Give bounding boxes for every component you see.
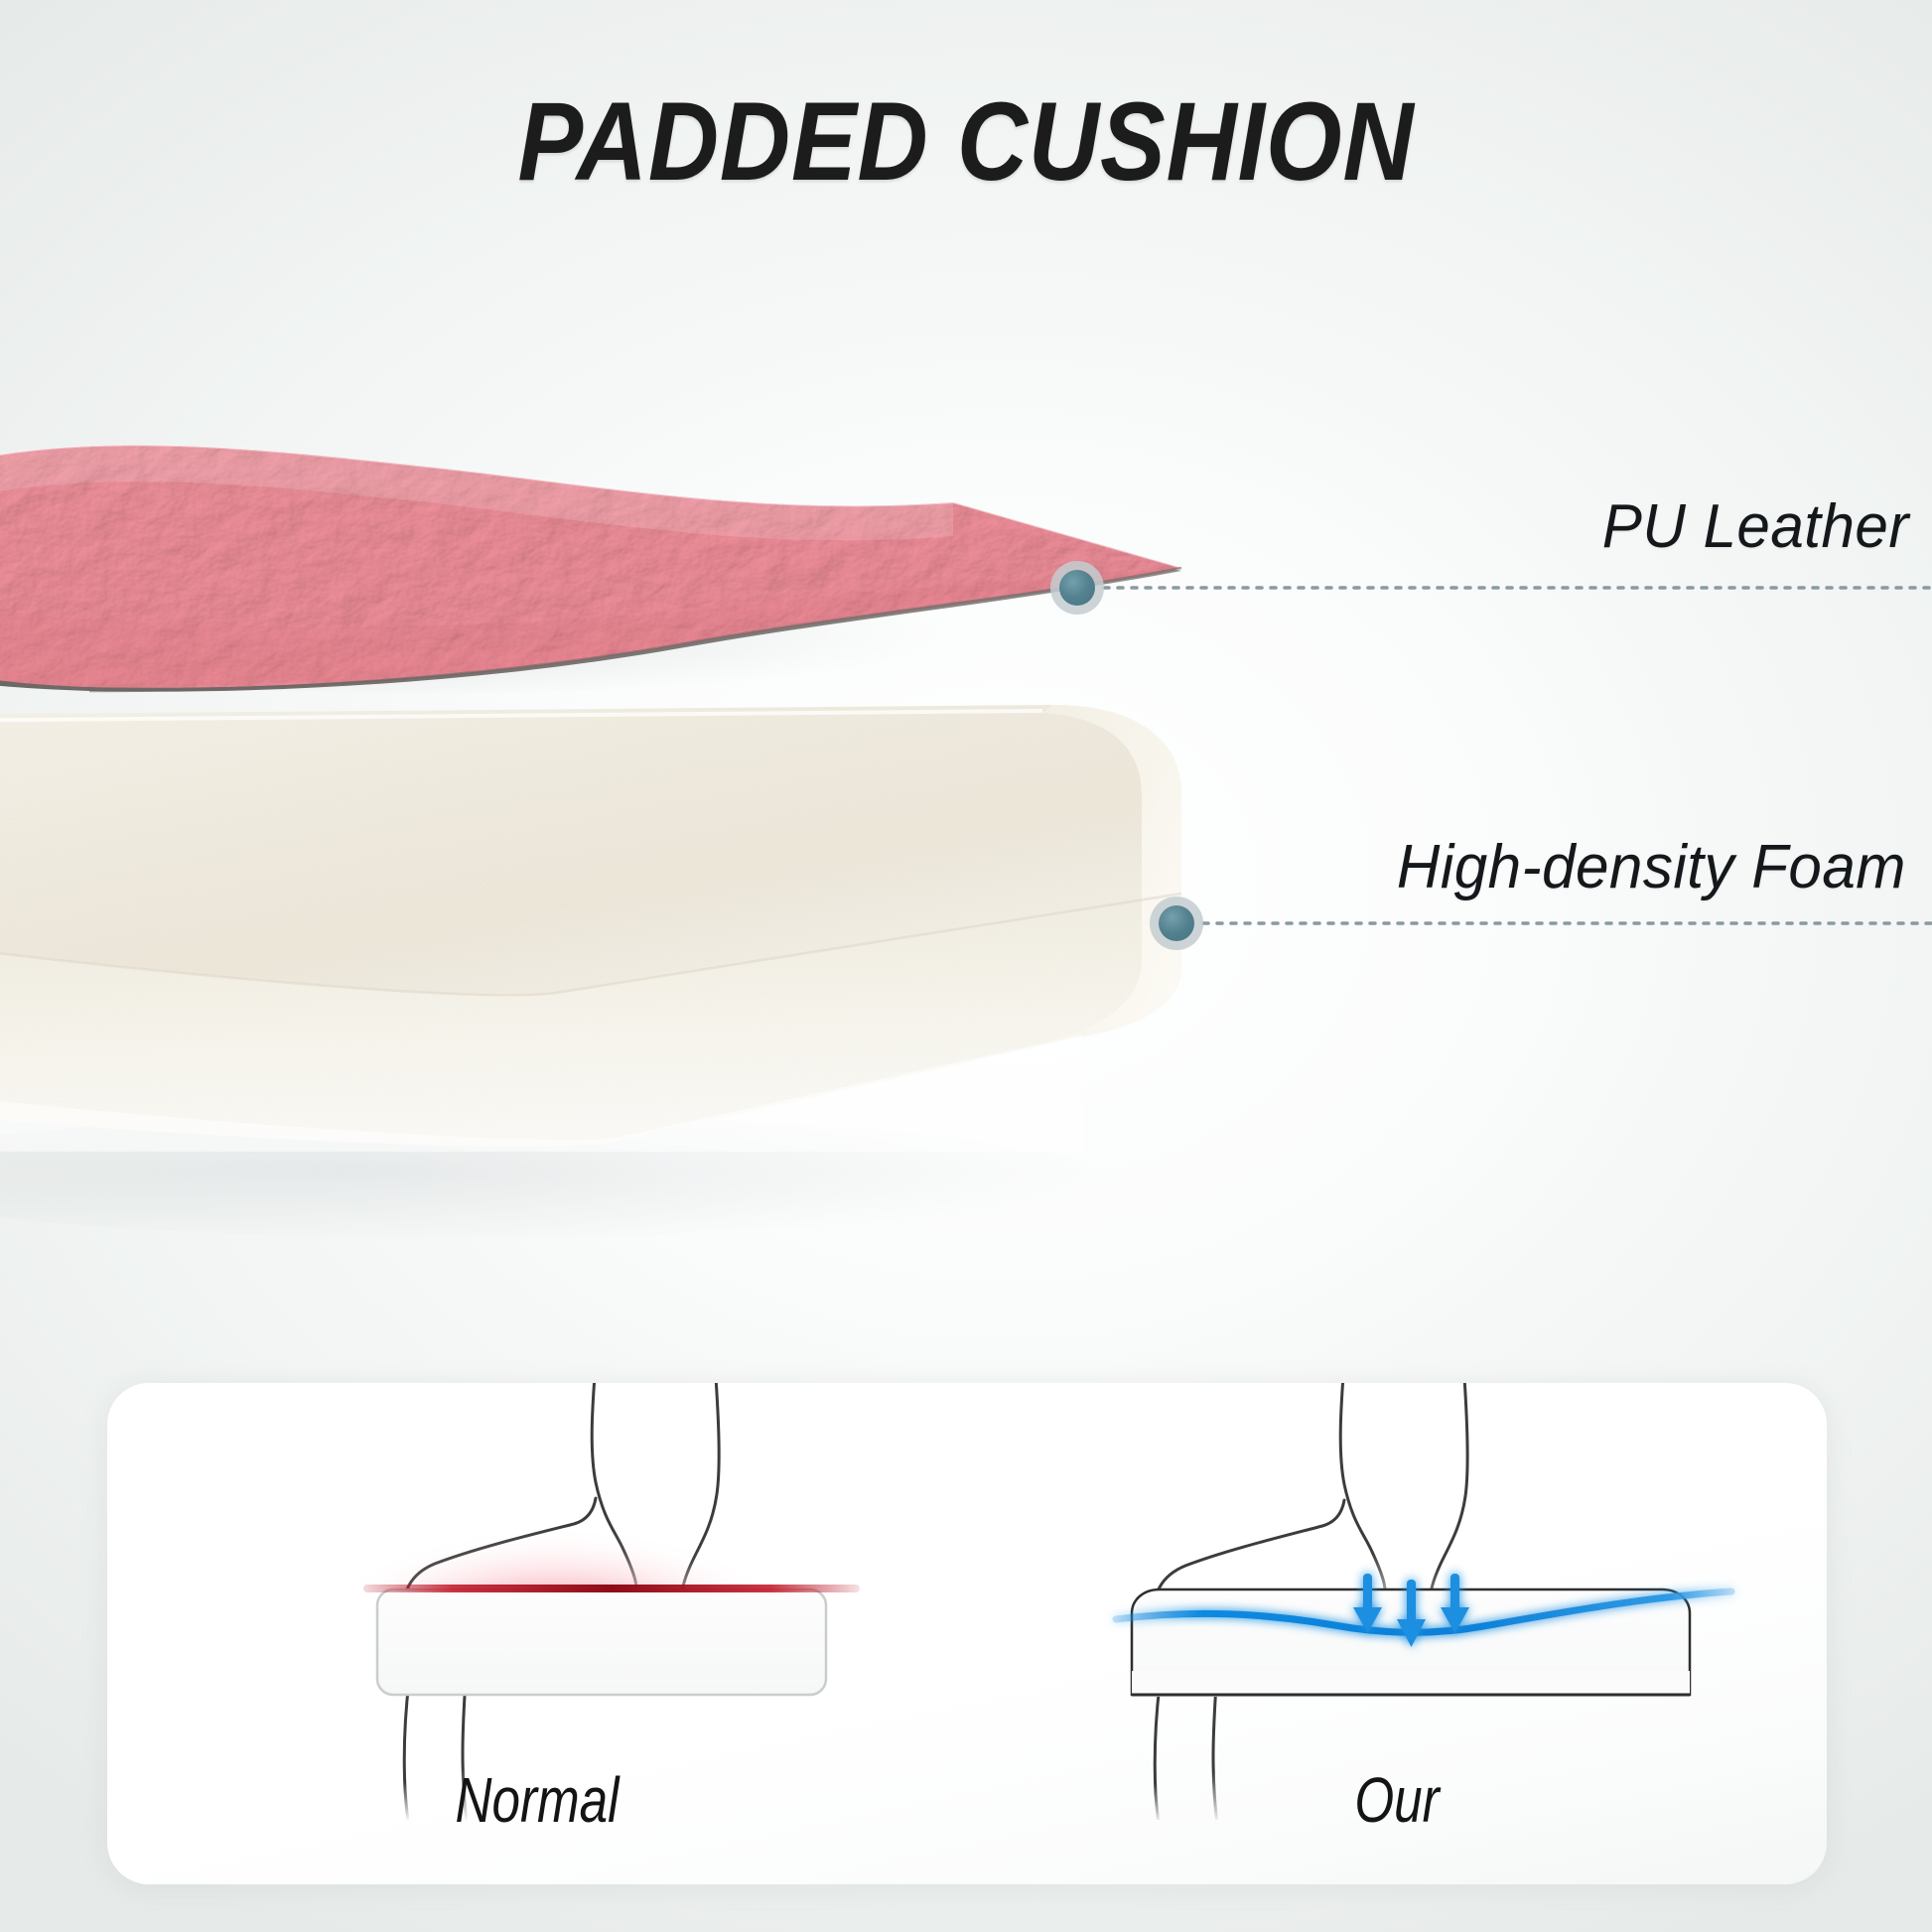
- callout-pu-leather[interactable]: [1050, 561, 1932, 615]
- pu-leather-dot[interactable]: [1059, 570, 1095, 606]
- pressure-line: [363, 1585, 860, 1592]
- our-cushion-figure: [967, 1383, 1827, 1820]
- normal-cushion-figure: [107, 1383, 967, 1820]
- comparison-label-our: Our: [1053, 1763, 1741, 1837]
- comparison-item-normal[interactable]: Normal: [107, 1383, 967, 1884]
- layer-label-pu-leather: PU Leather: [1602, 491, 1909, 562]
- layer-label-high-density-foam: High-density Foam: [1397, 832, 1906, 902]
- cushion-normal: [377, 1589, 826, 1695]
- infographic-canvas: PADDED CUSHION: [0, 0, 1932, 1932]
- foam-dot[interactable]: [1159, 905, 1194, 941]
- high-density-foam-layer: [0, 705, 1181, 1152]
- exploded-layers-illustration: [0, 0, 1932, 1251]
- comparison-label-normal: Normal: [194, 1763, 882, 1837]
- comparison-panel: Normal: [107, 1383, 1827, 1884]
- callout-high-density-foam[interactable]: [1150, 897, 1932, 950]
- comparison-item-our[interactable]: Our: [967, 1383, 1827, 1884]
